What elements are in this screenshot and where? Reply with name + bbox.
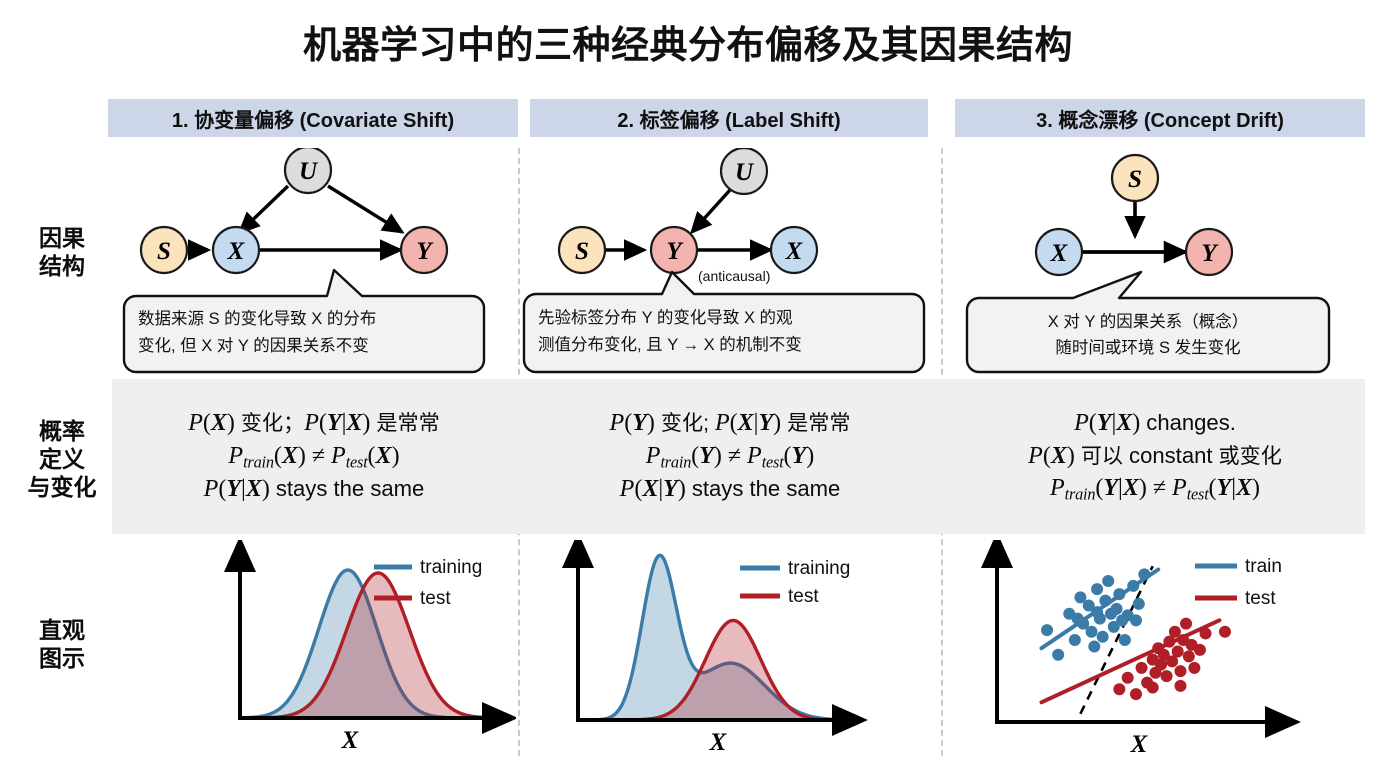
node-u-label: U (735, 159, 755, 186)
scatter-point-test (1136, 662, 1148, 674)
node-s-label: S (157, 238, 171, 265)
x-axis-label: X (1130, 731, 1149, 758)
probability-definitions-concept-drift: P(Y|X) changes. P(X) 可以 constant 或变化 Ptr… (945, 379, 1365, 534)
prob-line: Ptrain(Y|X) ≠ Ptest(Y|X) (1050, 474, 1260, 504)
callout-line-1: 数据来源 S 的变化导致 X 的分布 (138, 309, 376, 328)
legend-label-training: training (788, 558, 850, 579)
probability-definitions-covariate-shift: P(X) 变化；P(Y|X) 是常常 Ptrain(X) ≠ Ptest(X) … (112, 379, 516, 534)
callout-line-2: 随时间或环境 S 发生变化 (1055, 338, 1240, 357)
node-x-label: X (785, 238, 804, 265)
scatter-point-train (1099, 595, 1111, 607)
prob-line: P(X) 可以 constant 或变化 (1028, 442, 1282, 470)
scatter-point-train (1113, 588, 1125, 600)
probability-definitions-label-shift: P(Y) 变化; P(X|Y) 是常常 Ptrain(Y) ≠ Ptest(Y)… (522, 379, 938, 534)
scatter-point-train (1116, 614, 1128, 626)
scatter-point-train (1127, 580, 1139, 592)
prob-line: Ptrain(X) ≠ Ptest(X) (228, 442, 399, 472)
legend-label-train: train (1245, 556, 1282, 577)
row-label-causal-structure: 因果 结构 (14, 224, 110, 280)
scatter-point-train (1069, 634, 1081, 646)
row-label-line: 概率 (14, 417, 110, 445)
row-label-intuitive-chart: 直观 图示 (14, 616, 110, 672)
scatter-point-train (1088, 641, 1100, 653)
page-title: 机器学习中的三种经典分布偏移及其因果结构 (0, 14, 1376, 69)
column-header-concept-drift: 3. 概念漂移 (Concept Drift) (955, 99, 1365, 137)
scatter-point-train (1133, 598, 1145, 610)
scatter-point-test (1194, 644, 1206, 656)
column-header-label-shift: 2. 标签偏移 (Label Shift) (530, 99, 928, 137)
prob-line: P(X) 变化；P(Y|X) 是常常 (188, 409, 440, 437)
edge-u-to-y (328, 186, 402, 232)
edge-u-to-y (692, 190, 730, 232)
scatter-point-test (1174, 680, 1186, 692)
scatter-point-test (1180, 618, 1192, 630)
node-x-label: X (227, 238, 246, 265)
chart-label-shift: X training test (522, 540, 938, 762)
prob-line: P(X|Y) stays the same (620, 475, 841, 503)
scatter-point-train (1138, 568, 1150, 580)
legend-label-test: test (788, 586, 819, 607)
scatter-point-train (1091, 583, 1103, 595)
scatter-point-train (1102, 575, 1114, 587)
legend-label-test: test (1245, 588, 1276, 609)
density-area-test (580, 620, 844, 720)
scatter-point-train (1130, 614, 1142, 626)
legend-label-test: test (420, 588, 451, 609)
scatter-point-train (1052, 649, 1064, 661)
scatter-point-test (1130, 688, 1142, 700)
row-label-line: 因果 (14, 224, 110, 252)
node-u-label: U (299, 158, 319, 185)
scatter-point-test (1188, 662, 1200, 674)
scatter-point-train (1097, 631, 1109, 643)
row-label-line: 直观 (14, 616, 110, 644)
scatter-point-train (1091, 606, 1103, 618)
column-header-covariate-shift: 1. 协变量偏移 (Covariate Shift) (108, 99, 518, 137)
scatter-point-train (1041, 624, 1053, 636)
x-axis-label: X (709, 729, 728, 756)
x-axis-label: X (341, 727, 360, 754)
scatter-point-test (1122, 672, 1134, 684)
scatter-point-train (1086, 626, 1098, 638)
row-label-probability-definition: 概率 定义 与变化 (14, 417, 110, 501)
row-label-line: 图示 (14, 644, 110, 672)
row-label-line: 定义 (14, 445, 110, 473)
chart-concept-drift: X train test (945, 540, 1365, 762)
node-s-label: S (575, 238, 589, 265)
callout-line-1: X 对 Y 的因果关系（概念） (1048, 311, 1248, 331)
callout-line-1: 先验标签分布 Y 的变化导致 X 的观 (538, 308, 793, 327)
node-s-label: S (1128, 166, 1142, 193)
chart-covariate-shift: X training test (112, 540, 516, 762)
legend-label-training: training (420, 557, 482, 578)
edge-u-to-x (240, 186, 288, 232)
scatter-point-train (1072, 613, 1084, 625)
row-label-line: 与变化 (14, 473, 110, 501)
scatter-point-test (1219, 626, 1231, 638)
prob-line: Ptrain(Y) ≠ Ptest(Y) (646, 442, 814, 472)
prob-line: P(Y) 变化; P(X|Y) 是常常 (610, 409, 851, 437)
callout-line-2: 变化, 但 X 对 Y 的因果关系不变 (138, 336, 369, 355)
scatter-point-test (1161, 670, 1173, 682)
scatter-point-train (1119, 634, 1131, 646)
anticausal-note: (anticausal) (698, 268, 770, 284)
causal-diagram-covariate-shift: U S X Y 数据来源 S 的变化导致 X 的分布 变化, 但 X 对 Y 的… (112, 148, 516, 376)
causal-diagram-concept-drift: S X Y X 对 Y 的因果关系（概念） 随时间或环境 S 发生变化 (945, 148, 1365, 376)
fit-line-test (1041, 620, 1219, 702)
scatter-point-test (1172, 645, 1184, 657)
scatter-point-test (1147, 682, 1159, 694)
row-label-line: 结构 (14, 252, 110, 280)
scatter-point-test (1183, 650, 1195, 662)
scatter-point-test (1113, 683, 1125, 695)
scatter-point-test (1174, 665, 1186, 677)
scatter-point-train (1105, 608, 1117, 620)
node-x-label: X (1050, 240, 1069, 267)
scatter-point-test (1200, 627, 1212, 639)
density-area-test (242, 573, 494, 718)
callout-line-2: 测值分布变化, 且 Y → X 的机制不变 (538, 335, 802, 354)
causal-diagram-label-shift: U S Y X (anticausal) 先验标签分布 Y 的变化导致 X 的观… (522, 148, 938, 376)
prob-line: P(Y|X) changes. (1074, 409, 1236, 437)
prob-line: P(Y|X) stays the same (204, 475, 425, 503)
